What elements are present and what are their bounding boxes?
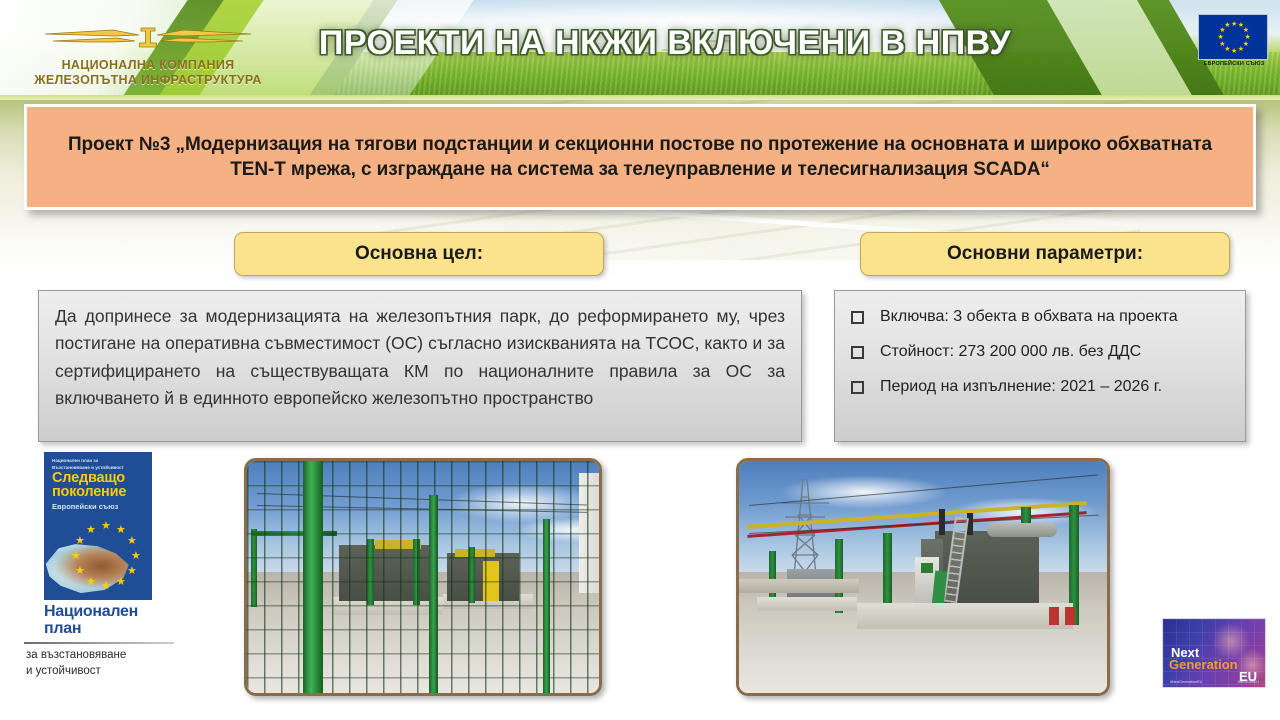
parameter-text: Включва: 3 обекта в обхвата на проекта [880, 307, 1178, 326]
npvu-star-icon: ★ [86, 577, 96, 588]
photo2-conservator-tank [987, 523, 1057, 537]
npvu-star-icon: ★ [86, 525, 96, 536]
npvu-star-icon: ★ [116, 577, 126, 588]
npvu-star-icon: ★ [101, 521, 111, 532]
npvu-flag-panel: Национален план за Възстановяване и усто… [44, 452, 152, 600]
photo-substation-fence [244, 458, 602, 696]
npvu-star-icon: ★ [75, 536, 85, 547]
npvu-title-line1: Национален [44, 604, 188, 620]
npvu-title-line2: план [44, 621, 188, 637]
parameter-text: Стойност: 273 200 000 лв. без ДДС [880, 342, 1141, 361]
eu-star-icon: ★ [1224, 23, 1230, 29]
eu-star-icon: ★ [1231, 22, 1237, 28]
eu-flag-caption: ЕВРОПЕЙСКИ СЪЮЗ [1198, 61, 1270, 67]
ngeu-line2: Generation [1169, 657, 1238, 672]
photo2-bushing [939, 509, 945, 535]
eu-star-icon: ★ [1219, 42, 1225, 48]
project-title-text: Проект №3 „Модернизация на тягови подста… [53, 132, 1227, 183]
photo2-cabinet-panel [921, 563, 933, 573]
goal-text-box: Да допринесе за модернизацията на железо… [38, 290, 802, 442]
nkzhi-name-line1: НАЦИОНАЛНА КОМПАНИЯ [14, 58, 282, 72]
npvu-divider [24, 642, 174, 644]
parameter-item: Включва: 3 обекта в обхвата на проекта [851, 307, 1235, 326]
checkbox-icon [851, 381, 864, 394]
npvu-big-line2: поколение [52, 484, 126, 500]
photo2-plinth [857, 603, 1073, 629]
eu-flag-icon: ★★★★★★★★★★★★ [1198, 14, 1268, 60]
slide-header-banner: НАЦИОНАЛНА КОМПАНИЯ ЖЕЛЕЗОПЪТНА ИНФРАСТР… [0, 0, 1280, 100]
winged-rail-icon [43, 22, 253, 56]
checkbox-icon [851, 311, 864, 324]
eu-star-icon: ★ [1231, 49, 1237, 55]
slide-title: ПРОЕКТИ НА НКЖИ ВКЛЮЧЕНИ В НПВУ [250, 24, 1080, 63]
npvu-star-icon: ★ [116, 525, 126, 536]
photo1-fence-post-main [303, 461, 323, 696]
ngeu-small-left: #NextGenerationEU [1170, 680, 1202, 684]
parameter-item: Стойност: 273 200 000 лв. без ДДС [851, 342, 1235, 361]
npvu-subtitle: за възстановяване и устойчивост [26, 648, 188, 679]
npvu-star-icon: ★ [127, 536, 137, 547]
npvu-star-icon: ★ [131, 551, 141, 562]
photo2-red-marker [1049, 607, 1059, 625]
parameter-text: Период на изпълнение: 2021 – 2026 г. [880, 377, 1162, 396]
photo1-fence-post [543, 519, 550, 696]
checkbox-icon [851, 346, 864, 359]
npvu-logo: Национален план за Възстановяване и усто… [8, 452, 188, 679]
npvu-subtitle-line1: за възстановяване [26, 648, 188, 664]
parameters-heading-box: Основни параметри: [860, 232, 1230, 276]
npvu-star-icon: ★ [71, 551, 81, 562]
goal-text: Да допринесе за модернизацията на железо… [55, 303, 785, 412]
goal-heading-label: Основна цел: [355, 243, 483, 265]
photo1-fence-post [429, 495, 438, 696]
photo2-plinth [757, 597, 857, 611]
photo-substation-transformers [736, 458, 1110, 696]
nkzhi-name-line2: ЖЕЛЕЗОПЪТНА ИНФРАСТРУКТУРА [14, 73, 282, 87]
next-generation-eu-logo: Next Generation EU #NextGenerationEU #Ne… [1162, 618, 1266, 688]
parameter-item: Период на изпълнение: 2021 – 2026 г. [851, 377, 1235, 396]
parameters-heading-label: Основни параметри: [947, 243, 1143, 265]
photo2-perimeter-wall [739, 579, 859, 593]
npvu-star-icon: ★ [75, 566, 85, 577]
ngeu-small-right: #NextGenEU [1238, 680, 1259, 684]
eu-star-icon: ★ [1238, 47, 1244, 53]
npvu-star-icon: ★ [127, 566, 137, 577]
goal-heading-box: Основна цел: [234, 232, 604, 276]
project-title-box: Проект №3 „Модернизация на тягови подста… [24, 104, 1256, 210]
npvu-star-icon: ★ [101, 581, 111, 592]
nkzhi-logo: НАЦИОНАЛНА КОМПАНИЯ ЖЕЛЕЗОПЪТНА ИНФРАСТР… [14, 22, 282, 87]
parameters-box: Включва: 3 обекта в обхвата на проекта С… [834, 290, 1246, 442]
npvu-subtitle-line2: и устойчивост [26, 664, 188, 680]
npvu-eu-line: Европейски съюз [52, 502, 118, 511]
photo2-red-marker [1065, 607, 1075, 625]
eu-star-icon: ★ [1218, 35, 1224, 41]
eu-flag-logo: ★★★★★★★★★★★★ ЕВРОПЕЙСКИ СЪЮЗ [1198, 14, 1270, 67]
npvu-small-line1: Национален план за [52, 458, 146, 465]
